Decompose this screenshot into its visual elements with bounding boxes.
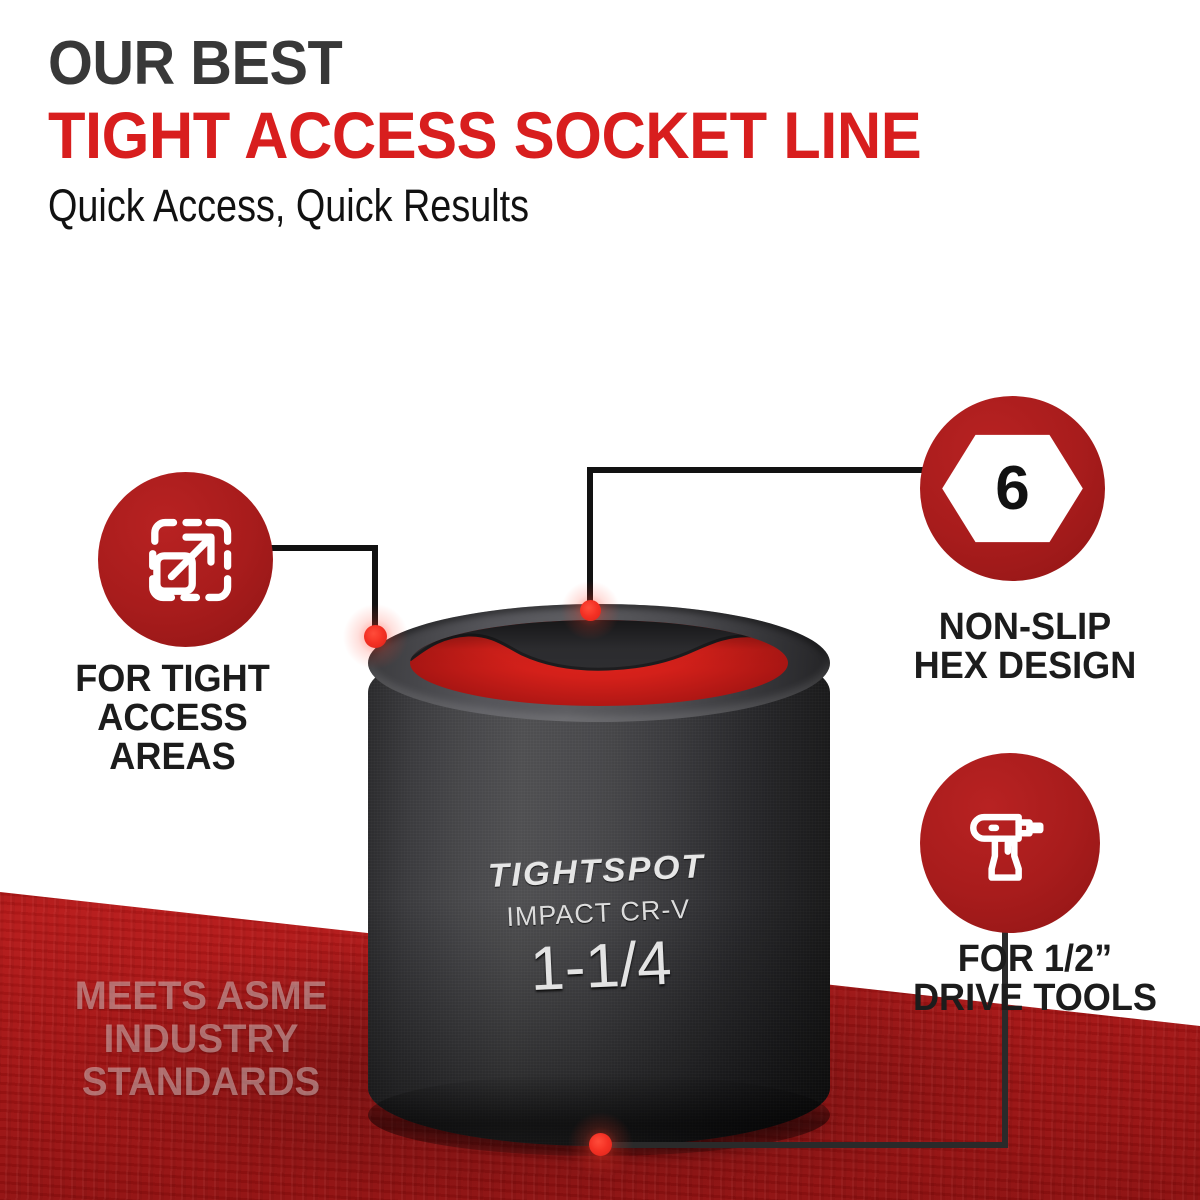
watermark-line-1: MEETS ASME [43, 975, 360, 1018]
callout-label-tight-access: FOR TIGHT ACCESS AREAS [9, 660, 337, 776]
subheadline: Quick Access, Quick Results [48, 181, 980, 231]
label-line-1: FOR 1/2” [878, 940, 1192, 979]
label-line-2: HEX DESIGN [864, 647, 1187, 686]
callout-label-hex-design: NON-SLIP HEX DESIGN [864, 608, 1187, 686]
callout-badge-tight-access[interactable] [98, 472, 273, 647]
label-line-2: ACCESS [9, 699, 337, 738]
callout-badge-drive-tools[interactable] [920, 753, 1100, 933]
header-block: OUR BEST TIGHT ACCESS SOCKET LINE Quick … [48, 34, 1158, 230]
callout-anchor-dot-drive [589, 1133, 612, 1156]
socket-engraving: TIGHTSPOT IMPACT CR-V 1-1/4 [365, 842, 833, 1013]
impact-wrench-icon [956, 789, 1064, 897]
hex-point-count: 6 [995, 458, 1029, 520]
expand-arrow-dashed-square-icon [134, 508, 238, 612]
infographic-canvas: OUR BEST TIGHT ACCESS SOCKET LINE Quick … [0, 0, 1200, 1200]
callout-label-drive-tools: FOR 1/2” DRIVE TOOLS [878, 940, 1192, 1018]
asme-standards-watermark: MEETS ASME INDUSTRY STANDARDS [43, 975, 360, 1105]
label-line-3: AREAS [9, 738, 337, 777]
callout-anchor-dot-hex [580, 600, 601, 621]
headline-primary: OUR BEST [48, 34, 1080, 94]
callout-anchor-dot-tight-access [364, 625, 387, 648]
label-line-2: DRIVE TOOLS [878, 979, 1192, 1018]
label-line-1: FOR TIGHT [9, 660, 337, 699]
headline-secondary: TIGHT ACCESS SOCKET LINE [48, 102, 1080, 169]
label-line-1: NON-SLIP [864, 608, 1187, 647]
watermark-line-2: INDUSTRY [43, 1018, 360, 1061]
callout-badge-hex-design[interactable]: 6 [920, 396, 1105, 581]
watermark-line-3: STANDARDS [43, 1061, 360, 1104]
impact-socket-product: TIGHTSPOT IMPACT CR-V 1-1/4 [368, 604, 830, 1160]
